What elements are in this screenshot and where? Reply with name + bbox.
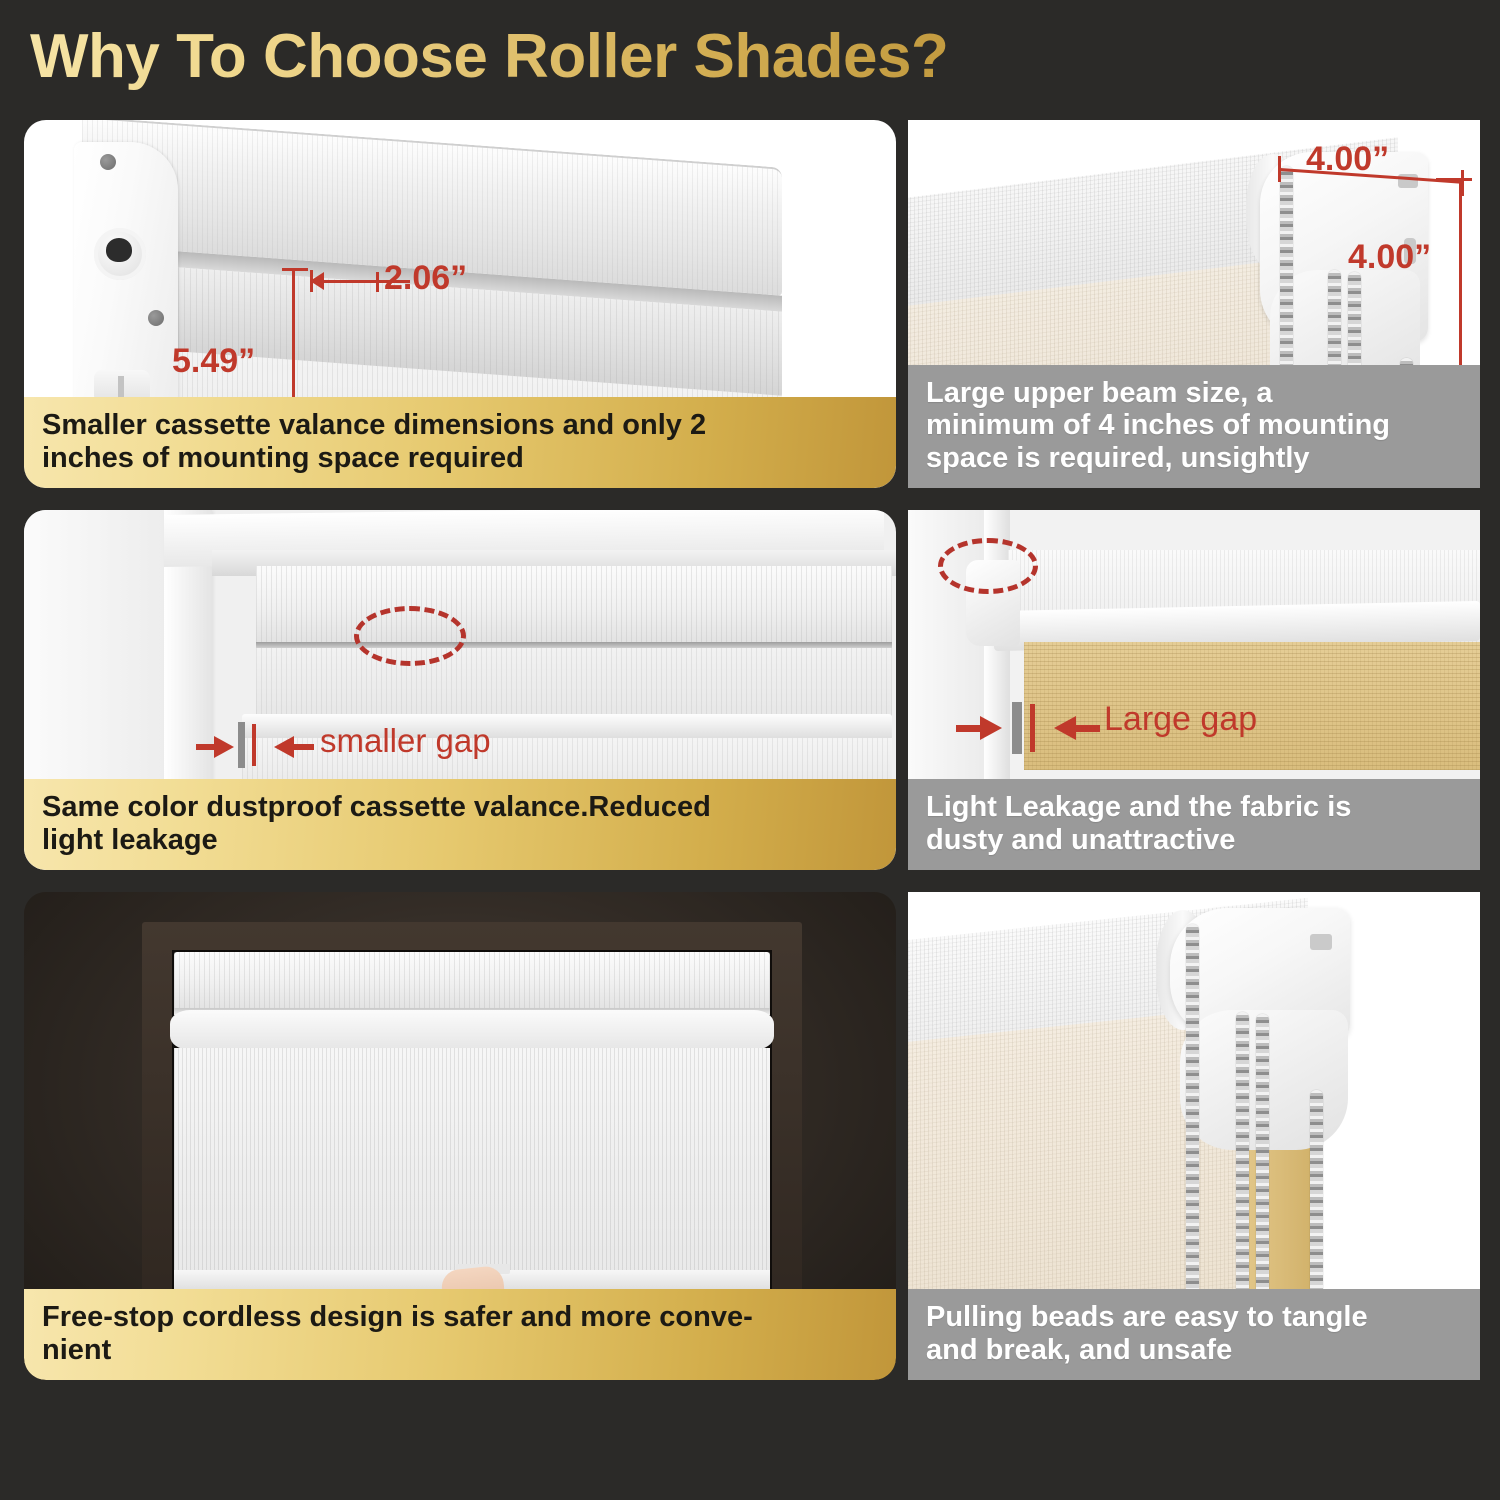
cassette-valance [174,952,770,1014]
panel-pro-cassette-size: 5.49” 2.06” Smaller cassette valance dim… [24,120,896,488]
arrow-shaft [292,744,314,750]
highlight-ellipse-icon [354,606,466,666]
dimension-label-width: 4.00” [1306,140,1389,179]
dimension-label-height: 5.49” [172,342,255,381]
roller-knob [94,228,146,280]
gap-edge [238,722,245,768]
panel-pro-cordless: Free-stop cordless design is safer and m… [24,892,896,1380]
shade-middle-section [256,648,892,722]
caption-line-2: minimum of 4 inches of mounting [926,409,1462,441]
screw-icon [148,310,164,326]
arrow-left-icon [1054,716,1076,740]
caption-pro-small-gap: Same color dustproof cassette valance.Re… [24,779,896,870]
header: Why To Choose Roller Shades? [0,0,1500,112]
caption-con-large-gap: Light Leakage and the fabric is dusty an… [908,779,1480,870]
caption-line-2: and break, and unsafe [926,1334,1462,1366]
page-title: Why To Choose Roller Shades? [30,21,948,92]
panel-pro-small-gap: smaller gap Same color dustproof cassett… [24,510,896,870]
arrow-right-icon [214,736,234,758]
caption-line-1: Free-stop cordless design is safer and m… [42,1301,878,1333]
caption-pro-cassette-size: Smaller cassette valance dimensions and … [24,397,896,488]
caption-line-3: space is required, unsightly [926,442,1462,474]
caption-con-beads: Pulling beads are easy to tangle and bre… [908,1289,1480,1380]
arrow-left-icon [274,736,294,758]
dimension-tick-right [376,272,379,292]
gap-edge [1012,702,1022,754]
arrow-shaft [1074,725,1100,732]
caption-line-2: dusty and unattractive [926,824,1462,856]
dimension-tick-top [282,268,308,271]
shade-fabric [174,1048,770,1276]
arrow-left-icon [310,272,324,290]
gap-marker [252,724,256,766]
dimension-line-vertical [1459,178,1462,370]
annotation-label-large-gap: Large gap [1104,700,1257,739]
dimension-label-height: 4.00” [1348,238,1431,277]
panel-con-large-gap: Large gap Light Leakage and the fabric i… [908,510,1480,870]
caption-line-2: nient [42,1334,878,1366]
roller-tube [170,1010,774,1050]
panel-con-beads: Pulling beads are easy to tangle and bre… [908,892,1480,1380]
shade-upper-section [256,566,892,644]
highlight-ellipse-icon [938,538,1038,594]
annotation-label-small-gap: smaller gap [320,722,491,760]
caption-con-beam-size: Large upper beam size, a minimum of 4 in… [908,365,1480,488]
caption-line-1: Light Leakage and the fabric is [926,791,1462,823]
caption-line-1: Same color dustproof cassette valance.Re… [42,791,878,823]
dimension-tick-left [1278,156,1281,182]
caption-line-2: light leakage [42,824,878,856]
arrow-right-icon [980,716,1002,740]
caption-pro-cordless: Free-stop cordless design is safer and m… [24,1289,896,1380]
caption-line-1: Large upper beam size, a [926,377,1462,409]
arrow-shaft [956,725,982,732]
panel-con-beam-size: 4.00” 4.00” Large upper beam size, a min… [908,120,1480,488]
caption-line-2: inches of mounting space required [42,442,878,474]
gap-marker [1030,704,1035,752]
dimension-tick-top [1436,178,1472,181]
caption-line-1: Pulling beads are easy to tangle [926,1301,1462,1333]
dimension-label-depth: 2.06” [384,259,467,298]
screw-icon [100,154,116,170]
caption-line-1: Smaller cassette valance dimensions and … [42,409,878,441]
